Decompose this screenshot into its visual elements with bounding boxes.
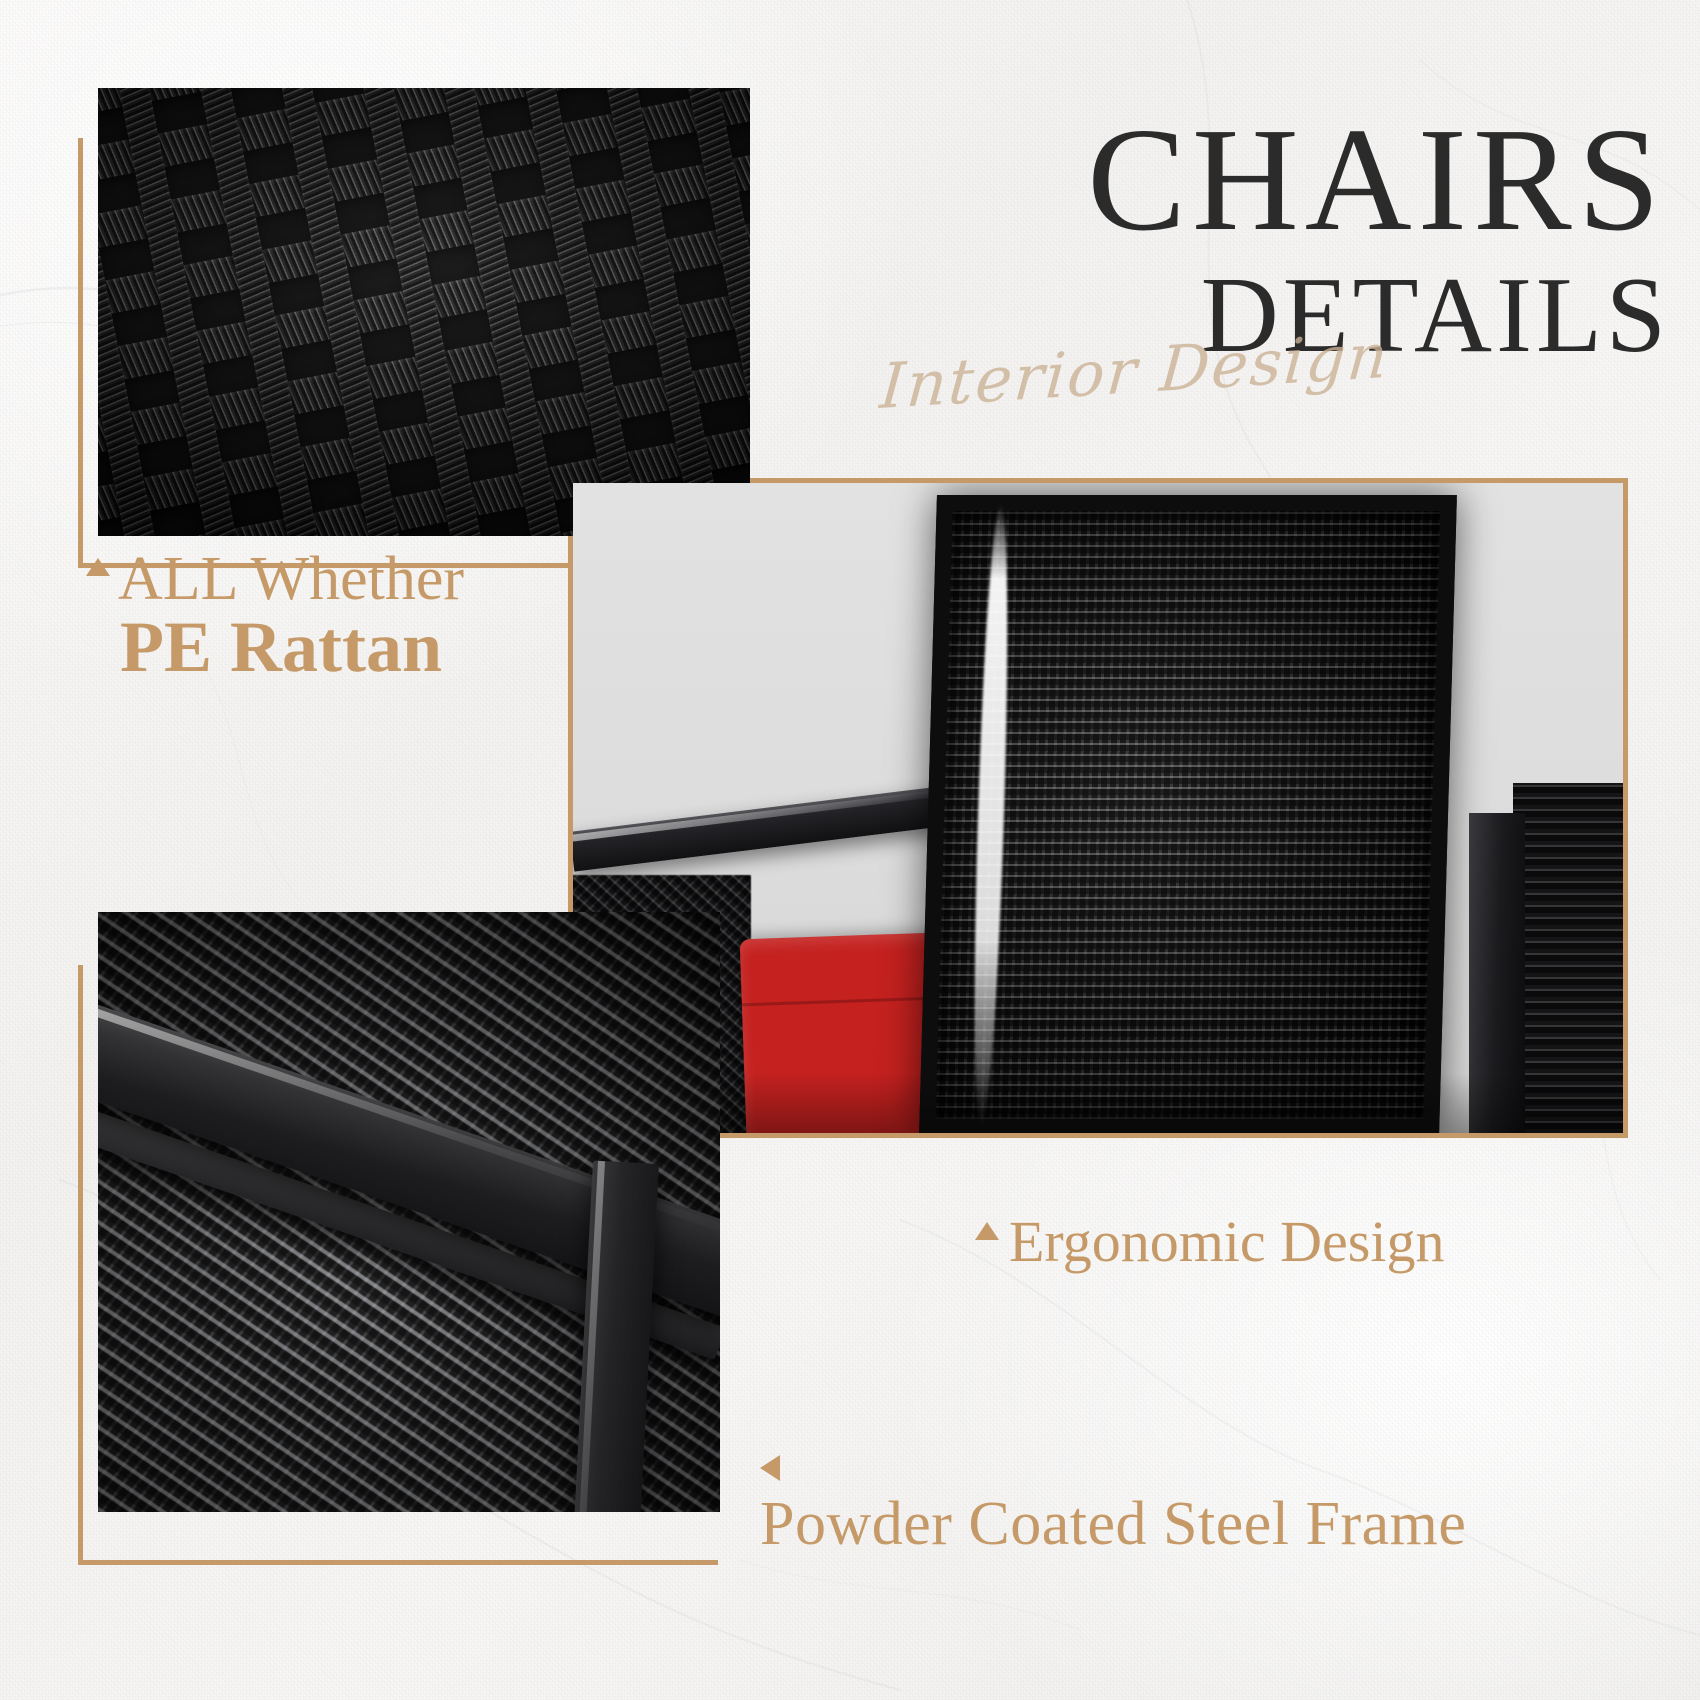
rattan-weave-texture: [98, 88, 750, 536]
feature-label-powder-coated-steel-frame: Powder Coated Steel Frame: [760, 1455, 1466, 1560]
product-detail-infographic: CHAIRS DETAILS Interior Design ALL Wheth…: [0, 0, 1700, 1700]
photo-rattan-weave: [98, 88, 750, 536]
photo-chair-back: [573, 483, 1623, 1133]
feature-label-text-powder-coated: Powder Coated Steel Frame: [760, 1489, 1466, 1560]
feature-label-text-all-whether: ALL Whether: [118, 545, 464, 613]
feature-label-ergonomic-design: Ergonomic Design: [975, 1208, 1444, 1275]
photo-steel-frame: [98, 912, 720, 1512]
page-subtitle: DETAILS: [820, 262, 1680, 370]
feature-label-text-ergonomic: Ergonomic Design: [1009, 1209, 1444, 1274]
page-title-block: CHAIRS DETAILS: [820, 112, 1680, 370]
feature-label-pe-rattan: ALL Whether PE Rattan: [86, 548, 464, 686]
chair-floor-shadow: [573, 1073, 1623, 1133]
triangle-left-icon: [760, 1455, 780, 1481]
feature-label-text-pe-rattan: PE Rattan: [120, 610, 464, 686]
feature-line-1: ALL Whether: [86, 548, 464, 610]
triangle-up-icon: [86, 558, 110, 576]
page-title: CHAIRS: [820, 112, 1680, 248]
triangle-up-icon: [975, 1222, 999, 1240]
